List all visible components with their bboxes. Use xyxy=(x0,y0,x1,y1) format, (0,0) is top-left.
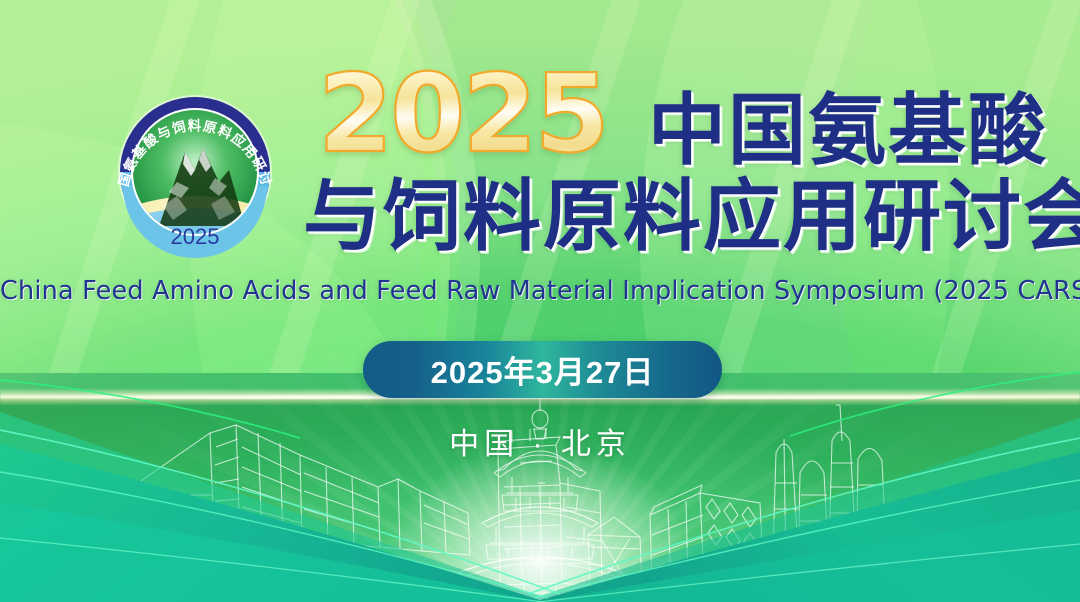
date-badge: 2025年3月27日 xyxy=(363,341,722,398)
title-line-2: 与饲料原料应用研讨会 xyxy=(303,178,1080,256)
conference-logo: 中国氨基酸与饲料原料应用研讨会 2025 xyxy=(99,78,291,266)
subtitle-english: China Feed Amino Acids and Feed Raw Mate… xyxy=(0,276,1080,306)
conference-banner: 中国氨基酸与饲料原料应用研讨会 2025 2025 中国氨基酸 与饲料原料应用研… xyxy=(0,0,1080,602)
location-text: 中国 · 北京 xyxy=(0,419,1080,463)
year-heading: 2025 xyxy=(318,61,607,169)
logo-year-text: 2025 xyxy=(171,224,220,249)
title-line-1: 中国氨基酸 xyxy=(648,92,1048,170)
date-text: 2025年3月27日 xyxy=(431,347,655,392)
